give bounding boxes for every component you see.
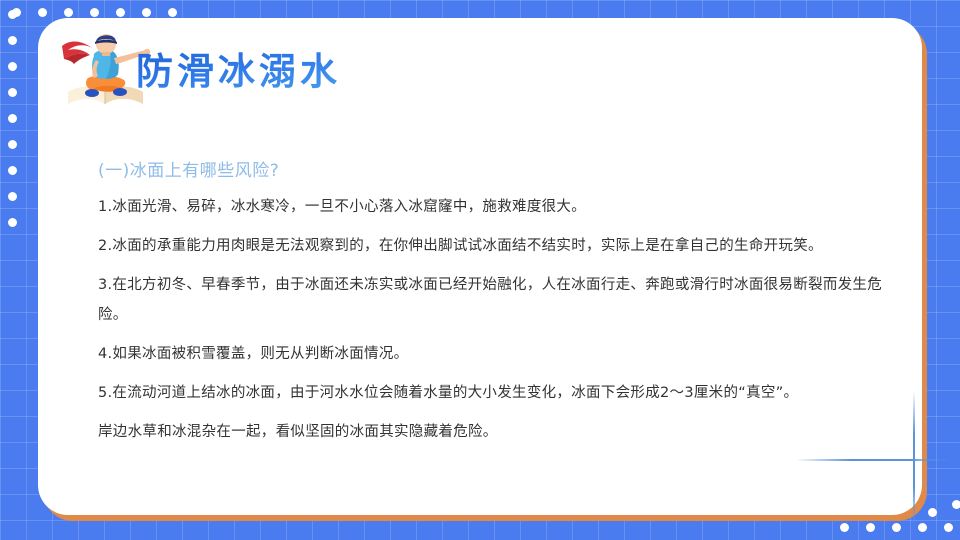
slide-header: 防滑冰溺水 (58, 28, 478, 118)
decorative-dot (116, 8, 125, 17)
decorative-dot (866, 523, 875, 532)
page-title: 防滑冰溺水 (136, 48, 341, 96)
decorative-dot (38, 8, 47, 17)
decorative-dot (944, 523, 953, 532)
decorative-dot (64, 8, 73, 17)
decorative-dot (8, 10, 17, 19)
decorative-dot (8, 88, 17, 97)
crosshair-horizontal-line (798, 459, 948, 461)
content-body: (一)冰面上有哪些风险? 1.冰面光滑、易碎，冰水寒冷，一旦不小心落入冰窟窿中，… (98, 158, 888, 447)
decorative-dot (952, 500, 960, 509)
decorative-dot (918, 523, 927, 532)
decorative-dot (8, 36, 17, 45)
body-paragraph: 1.冰面光滑、易碎，冰水寒冷，一旦不小心落入冰窟窿中，施救难度很大。 (98, 192, 888, 222)
decorative-dot (8, 114, 17, 123)
decorative-dot (90, 8, 99, 17)
section-heading: (一)冰面上有哪些风险? (98, 158, 888, 184)
decorative-dot (142, 8, 151, 17)
content-card: 防滑冰溺水 (一)冰面上有哪些风险? 1.冰面光滑、易碎，冰水寒冷，一旦不小心落… (38, 18, 922, 515)
decorative-dot (168, 8, 177, 17)
crosshair-vertical-line (913, 393, 915, 528)
decorative-dot (8, 140, 17, 149)
decorative-dot (8, 166, 17, 175)
body-paragraph: 3.在北方初冬、早春季节，由于冰面还未冻实或冰面已经开始融化，人在冰面行走、奔跑… (98, 270, 888, 330)
body-paragraph: 4.如果冰面被积雪覆盖，则无从判断冰面情况。 (98, 339, 888, 369)
body-paragraph: 5.在流动河道上结冰的冰面，由于河水水位会随着水量的大小发生变化，冰面下会形成2… (98, 378, 888, 408)
decorative-dot (840, 523, 849, 532)
decorative-dot (928, 508, 937, 517)
decorative-dot (8, 218, 17, 227)
body-paragraph: 岸边水草和冰混杂在一起，看似坚固的冰面其实隐藏着危险。 (98, 417, 888, 447)
decorative-dot (892, 523, 901, 532)
decorative-dot (8, 192, 17, 201)
slide-canvas: 防滑冰溺水 (一)冰面上有哪些风险? 1.冰面光滑、易碎，冰水寒冷，一旦不小心落… (0, 0, 960, 540)
decorative-dot (8, 62, 17, 71)
body-paragraph: 2.冰面的承重能力用肉眼是无法观察到的，在你伸出脚试试冰面结不结实时，实际上是在… (98, 231, 888, 261)
